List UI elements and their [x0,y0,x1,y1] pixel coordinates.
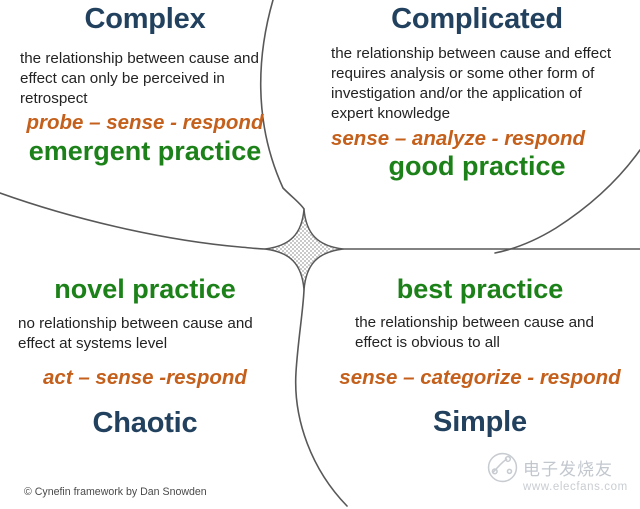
quadrant-complicated-practice: good practice [327,152,627,182]
elecfans-logo-icon [487,452,518,483]
quadrant-simple-action: sense – categorize - respond [327,366,633,391]
quadrant-chaotic-practice: novel practice [6,275,284,305]
quadrant-complicated-action: sense – analyze - respond [327,127,627,152]
quadrant-complex-practice: emergent practice [6,137,284,167]
quadrant-chaotic-action: act – sense -respond [6,366,284,391]
quadrant-complicated: Complicated the relationship between cau… [327,4,627,182]
quadrant-complex-action: probe – sense - respond [6,111,284,136]
quadrant-chaotic-description: no relationship between cause and effect… [6,314,284,354]
quadrant-simple-description: the relationship between cause and effec… [327,313,633,353]
copyright-credit: © Cynefin framework by Dan Snowden [24,486,207,498]
quadrant-complex-description: the relationship between cause and effec… [6,49,284,110]
quadrant-simple-title: Simple [327,407,633,438]
quadrant-simple-practice: best practice [327,275,633,305]
quadrant-complex: Complex the relationship between cause a… [6,4,284,167]
cynefin-framework-diagram: Complex the relationship between cause a… [0,0,640,509]
watermark-url: www.elecfans.com [523,481,633,493]
quadrant-complicated-title: Complicated [327,4,627,35]
watermark-chinese-text: 电子发烧友 [523,455,613,480]
boundary-left-horizontal [0,193,265,249]
quadrant-chaotic-title: Chaotic [6,408,284,439]
quadrant-complicated-description: the relationship between cause and effec… [327,44,627,125]
site-watermark: 电子发烧友 www.elecfans.com [487,452,633,502]
outer-arc-bottom-left [0,263,140,274]
quadrant-complex-title: Complex [6,4,284,35]
quadrant-chaotic: novel practice no relationship between c… [6,275,284,438]
quadrant-simple: best practice the relationship between c… [327,275,633,437]
